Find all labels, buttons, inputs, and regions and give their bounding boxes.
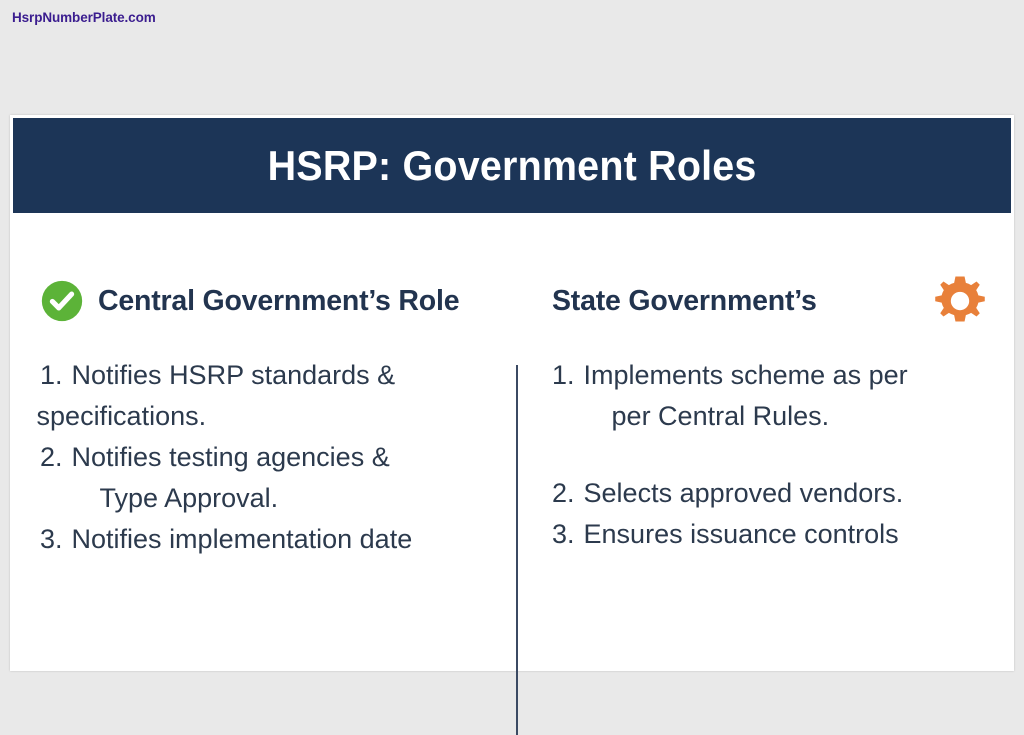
list-item-line2: per Central Rules. (584, 396, 988, 437)
roles-columns: Central Government’s Role 1. Notifies HS… (10, 213, 1014, 671)
list-item-line2: specifications. (37, 396, 516, 437)
list-item-text: Notifies testing agencies & Type Approva… (72, 437, 516, 519)
list-item-number: 1. (552, 355, 575, 396)
column-state-government: State Government’s 1. Implements scheme … (516, 213, 1014, 671)
list-item-number: 3. (40, 519, 63, 560)
list-item-line1: Ensures issuance controls (584, 519, 899, 549)
list-item-line2: Type Approval. (72, 478, 516, 519)
list-item-line1: Implements scheme as per (584, 360, 908, 390)
page-title: HSRP: Government Roles (268, 142, 757, 190)
list-item-number: 2. (552, 473, 575, 514)
list-item: 1. Implements scheme as per per Central … (552, 355, 988, 437)
central-government-heading: Central Government’s Role (98, 285, 459, 318)
gear-icon (932, 273, 988, 329)
list-item-text: Notifies HSRP standards & specifications… (72, 355, 516, 437)
state-government-header: State Government’s (552, 275, 988, 327)
infographic-card: HSRP: Government Roles Central Governmen… (10, 115, 1014, 671)
list-item-text: Implements scheme as per per Central Rul… (584, 355, 988, 437)
site-watermark: HsrpNumberPlate.com (12, 10, 156, 25)
list-item-line1: Notifies testing agencies & (72, 442, 390, 472)
check-circle-icon (40, 279, 84, 323)
list-spacer (552, 437, 988, 473)
list-item-number: 3. (552, 514, 575, 555)
list-item-text: Ensures issuance controls (584, 514, 988, 555)
list-item: 3. Ensures issuance controls (552, 514, 988, 555)
central-government-header: Central Government’s Role (40, 275, 516, 327)
central-government-list: 1. Notifies HSRP standards & specificati… (40, 355, 516, 560)
list-item-line1: Notifies HSRP standards & (72, 360, 396, 390)
state-government-list: 1. Implements scheme as per per Central … (552, 355, 988, 555)
list-item-text: Selects approved vendors. (584, 473, 988, 514)
list-item: 1. Notifies HSRP standards & specificati… (40, 355, 516, 437)
card-title-bar: HSRP: Government Roles (13, 118, 1011, 213)
list-item-line1: Selects approved vendors. (584, 478, 904, 508)
state-government-heading: State Government’s (552, 285, 817, 318)
list-item: 2. Selects approved vendors. (552, 473, 988, 514)
list-item: 3. Notifies implementation date (40, 519, 516, 560)
list-item-text: Notifies implementation date (72, 519, 516, 560)
list-item-number: 1. (40, 355, 63, 396)
list-item: 2. Notifies testing agencies & Type Appr… (40, 437, 516, 519)
list-item-number: 2. (40, 437, 63, 478)
list-item-line1: Notifies implementation date (72, 524, 413, 554)
column-central-government: Central Government’s Role 1. Notifies HS… (10, 213, 516, 671)
